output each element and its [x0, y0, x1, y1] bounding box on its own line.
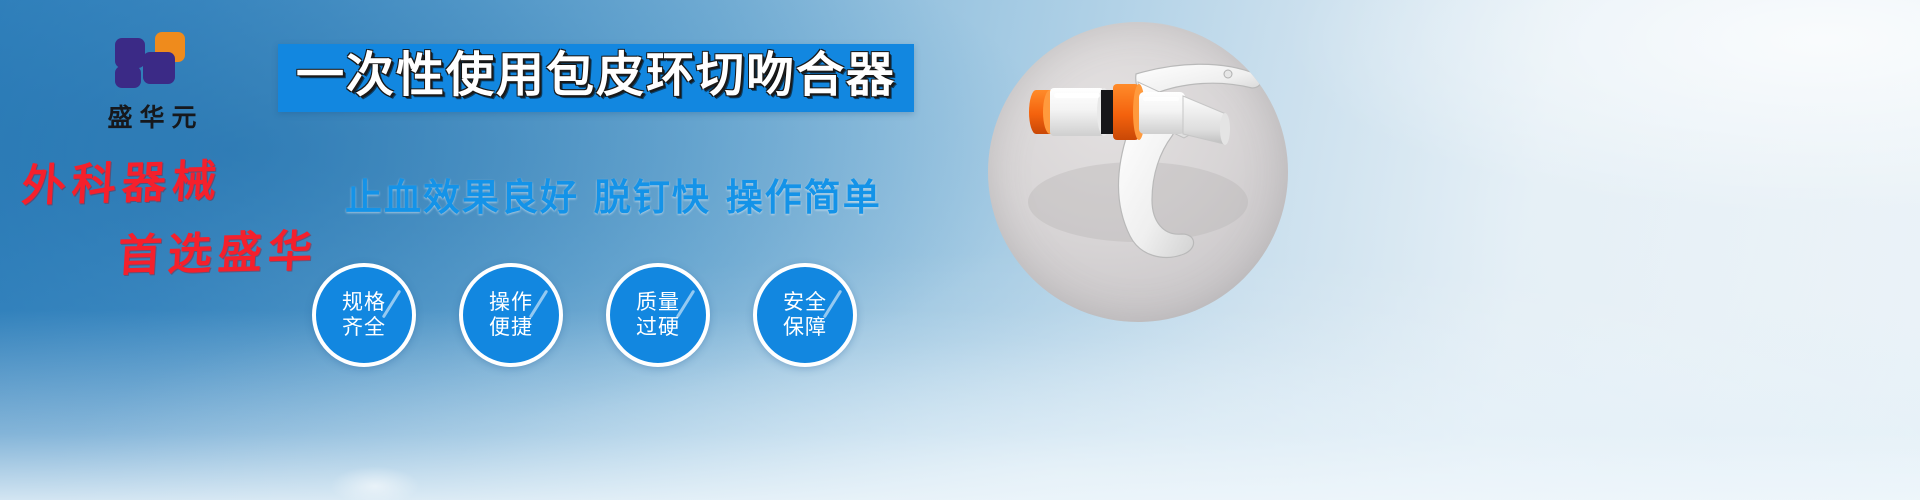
feature-badge-list: 规格 齐全 操作 便捷 质量 过硬 安全 保障 [312, 263, 857, 367]
page-title-text: 一次性使用包皮环切吻合器 [296, 50, 896, 102]
feature-badge-line-1: 安全 [783, 290, 827, 315]
feature-badge-line-2: 便捷 [489, 315, 533, 340]
feature-badge-line-1: 规格 [342, 290, 386, 315]
feature-badge[interactable]: 操作 便捷 [459, 263, 563, 367]
bottom-glow-decor [330, 466, 420, 500]
feature-badge[interactable]: 规格 齐全 [312, 263, 416, 367]
feature-badge[interactable]: 质量 过硬 [606, 263, 710, 367]
feature-badge-line-1: 质量 [636, 290, 680, 315]
feature-badge[interactable]: 安全 保障 [753, 263, 857, 367]
stapler-device-illustration [988, 22, 1288, 322]
calligraphy-slogan: 外科器械 首选盛华 [22, 150, 352, 284]
feature-badge-line-1: 操作 [489, 290, 533, 315]
page-title: 一次性使用包皮环切吻合器 [278, 44, 914, 112]
product-photo [988, 22, 1288, 322]
calligraphy-line-1: 外科器械 [20, 141, 355, 214]
background-bottom-glow [0, 310, 1920, 500]
brand-name: 盛华元 [62, 98, 242, 134]
company-blocks-logo-icon [115, 26, 189, 92]
brand-logo[interactable]: 盛华元 [62, 26, 242, 134]
feature-badge-line-2: 齐全 [342, 315, 386, 340]
feature-badge-line-2: 过硬 [636, 315, 680, 340]
feature-badge-line-2: 保障 [783, 315, 827, 340]
subtitle-text: 止血效果良好 脱钉快 操作简单 [345, 167, 882, 221]
promo-banner: 盛华元 一次性使用包皮环切吻合器 外科器械 首选盛华 止血效果良好 脱钉快 操作… [0, 0, 1920, 500]
